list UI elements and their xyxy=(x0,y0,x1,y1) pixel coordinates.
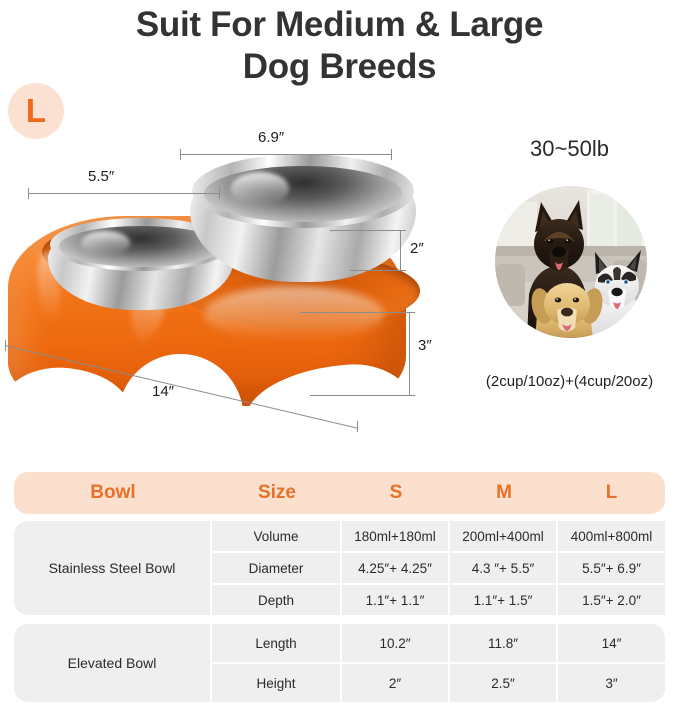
three-dogs-photo xyxy=(495,186,647,338)
dim-label-large-diameter: 6.9″ xyxy=(258,129,284,146)
cell-size-label: Depth xyxy=(212,585,340,615)
table-row: Length 10.2″ 11.8″ 14″ xyxy=(212,624,665,662)
weight-range-label: 30~50lb xyxy=(460,136,679,162)
dim-line-small-diameter xyxy=(28,193,220,194)
table-row: Volume 180ml+180ml 200ml+400ml 400ml+800… xyxy=(212,521,665,551)
cell-value-l: 5.5″+ 6.9″ xyxy=(558,553,665,583)
cell-value-m: 200ml+400ml xyxy=(450,521,556,551)
cell-value-m: 4.3 ″+ 5.5″ xyxy=(450,553,556,583)
dim-line-large-diameter xyxy=(180,154,392,155)
page-title-line-1: Suit For Medium & Large xyxy=(0,4,679,46)
cell-value-s: 180ml+180ml xyxy=(342,521,448,551)
spec-table-header-row: Bowl Size S M L xyxy=(14,472,665,514)
cell-size-label: Length xyxy=(212,624,340,662)
cell-value-m: 11.8″ xyxy=(450,624,556,662)
breed-weight-panel: 30~50lb xyxy=(460,136,679,426)
dim-label-small-diameter: 5.5″ xyxy=(88,168,114,185)
stainless-bowl-large xyxy=(190,154,416,282)
header-size-s: S xyxy=(342,482,450,504)
dim-line-stand-height xyxy=(409,312,410,395)
table-row: Height 2″ 2.5″ 3″ xyxy=(212,664,665,702)
three-dogs-illustration xyxy=(495,186,647,338)
dim-tick-stand-length-left xyxy=(5,340,6,351)
cell-value-l: 1.5″+ 2.0″ xyxy=(558,585,665,615)
cell-value-s: 10.2″ xyxy=(342,624,448,662)
dim-leader-stand-height-top xyxy=(300,312,408,313)
spec-group-stainless-steel-bowl: Stainless Steel Bowl Volume 180ml+180ml … xyxy=(14,521,665,615)
cell-value-m: 2.5″ xyxy=(450,664,556,702)
cell-value-l: 3″ xyxy=(558,664,665,702)
dim-tick-small-diameter-left xyxy=(28,188,29,199)
cell-value-l: 14″ xyxy=(558,624,665,662)
cell-value-m: 1.1″+ 1.5″ xyxy=(450,585,556,615)
cell-size-label: Volume xyxy=(212,521,340,551)
group-label-elevated-bowl: Elevated Bowl xyxy=(14,624,210,702)
cell-value-l: 400ml+800ml xyxy=(558,521,665,551)
size-badge-letter: L xyxy=(26,94,46,127)
header-size-l: L xyxy=(558,482,665,504)
dim-tick-small-diameter-right xyxy=(219,188,220,199)
dim-label-stand-length: 14″ xyxy=(152,383,174,400)
cell-size-label: Height xyxy=(212,664,340,702)
dim-tick-large-diameter-right xyxy=(391,149,392,160)
cell-value-s: 2″ xyxy=(342,664,448,702)
dim-leader-stand-height-bottom xyxy=(310,395,408,396)
page-title: Suit For Medium & Large Dog Breeds xyxy=(0,0,679,88)
dim-tick-large-diameter-left xyxy=(180,149,181,160)
table-row: Diameter 4.25″+ 4.25″ 4.3 ″+ 5.5″ 5.5″+ … xyxy=(212,553,665,583)
dim-leader-large-depth-bottom xyxy=(350,270,398,271)
spec-group-elevated-bowl: Elevated Bowl Length 10.2″ 11.8″ 14″ Hei… xyxy=(14,624,665,702)
elevated-bowl-stand xyxy=(8,216,406,406)
capacity-label: (2cup/10oz)+(4cup/20oz) xyxy=(458,373,679,390)
dim-tick-stand-length-right xyxy=(357,421,358,432)
header-bowl: Bowl xyxy=(14,482,212,504)
page-title-line-2: Dog Breeds xyxy=(0,46,679,88)
dim-label-stand-height: 3″ xyxy=(418,337,432,354)
dim-label-large-depth: 2″ xyxy=(410,240,424,257)
group-rows-elevated-bowl: Length 10.2″ 11.8″ 14″ Height 2″ 2.5″ 3″ xyxy=(212,624,665,702)
product-image: 5.5″ 6.9″ 2″ 3″ 14″ xyxy=(0,130,460,450)
bowl-small-sheen xyxy=(81,231,129,255)
cell-value-s: 1.1″+ 1.1″ xyxy=(342,585,448,615)
cell-size-label: Diameter xyxy=(212,553,340,583)
dim-line-large-depth xyxy=(400,230,401,270)
header-size-m: M xyxy=(450,482,558,504)
group-label-stainless-steel-bowl: Stainless Steel Bowl xyxy=(14,521,210,615)
group-rows-stainless-steel-bowl: Volume 180ml+180ml 200ml+400ml 400ml+800… xyxy=(212,521,665,615)
spec-table: Bowl Size S M L Stainless Steel Bowl Vol… xyxy=(14,472,665,702)
dim-leader-large-depth-top xyxy=(330,230,398,231)
table-row: Depth 1.1″+ 1.1″ 1.1″+ 1.5″ 1.5″+ 2.0″ xyxy=(212,585,665,615)
header-size: Size xyxy=(212,482,342,504)
cell-value-s: 4.25″+ 4.25″ xyxy=(342,553,448,583)
